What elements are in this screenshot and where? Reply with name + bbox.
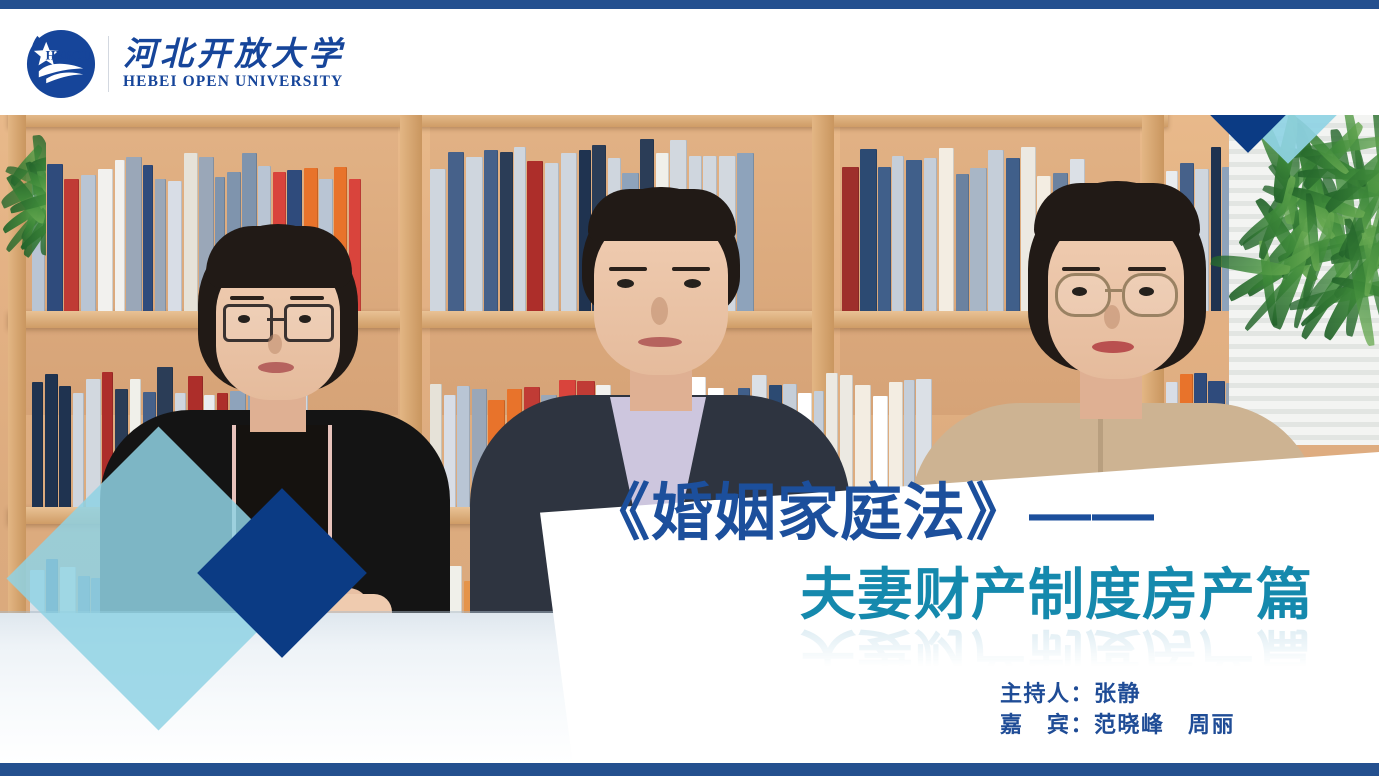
header-bar: HEBOU 河北开放大学 HEBEI OPEN UNIVERSITY [0, 9, 1379, 115]
host-credit: 主持人：张静 [1000, 678, 1235, 709]
title-line-2: 夫妻财产制度房产篇 [800, 567, 1313, 623]
brand-lockup[interactable]: HEBOU 河北开放大学 HEBEI OPEN UNIVERSITY [24, 27, 345, 101]
title-reflection: 夫妻财产制度房产篇 [800, 626, 1313, 682]
title-block: 《婚姻家庭法》—— 夫妻财产制度房产篇 夫妻财产制度房产篇 [588, 483, 1313, 682]
book-spine [448, 152, 465, 311]
book-spine [59, 386, 71, 507]
bottom-accent-bar [0, 763, 1379, 776]
book-spine [466, 157, 483, 311]
book-spine [73, 393, 84, 507]
book-spine [892, 156, 904, 311]
book-spine [457, 386, 470, 507]
logo-divider [108, 36, 109, 92]
book-spine [860, 149, 876, 311]
book-spine [842, 167, 859, 311]
top-accent-bar [0, 0, 1379, 9]
hebou-crest-icon: HEBOU [24, 27, 98, 101]
title-card-stage: 《婚姻家庭法》—— 夫妻财产制度房产篇 夫妻财产制度房产篇 主持人：张静 嘉 宾… [0, 0, 1379, 776]
book-spine [906, 160, 923, 311]
shelf-board [8, 115, 1168, 127]
credits-block: 主持人：张静 嘉 宾：范晓峰 周丽 [1000, 678, 1235, 740]
eyeglasses-right-lens [284, 304, 334, 342]
book-spine [878, 167, 891, 311]
book-spine [47, 164, 63, 311]
eyeglasses-left-lens [223, 304, 273, 342]
title-line-1: 《婚姻家庭法》—— [588, 483, 1313, 545]
book-spine [45, 374, 58, 507]
guest-credit: 嘉 宾：范晓峰 周丽 [1000, 709, 1235, 740]
potted-plant-left [0, 115, 46, 445]
logo-mark-text: HEBOU [46, 49, 91, 63]
brand-name-cn: 河北开放大学 [123, 36, 345, 72]
book-spine [64, 179, 79, 311]
brand-text: 河北开放大学 HEBEI OPEN UNIVERSITY [123, 36, 345, 91]
book-spine [81, 175, 97, 311]
brand-name-en: HEBEI OPEN UNIVERSITY [123, 73, 345, 92]
